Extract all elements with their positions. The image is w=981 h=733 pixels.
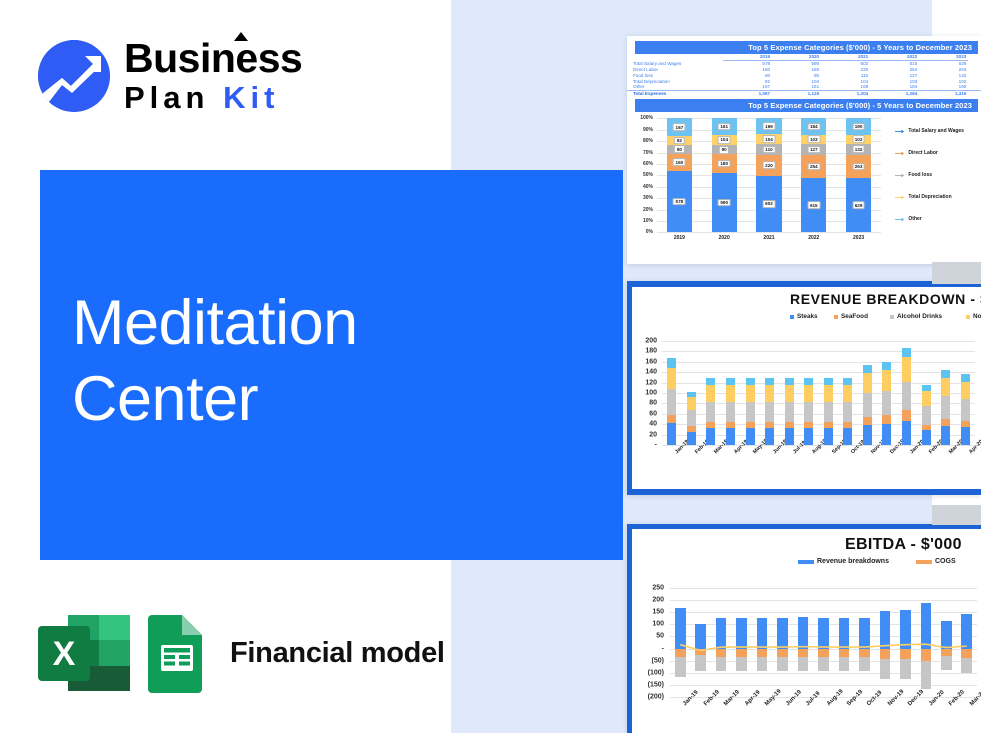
bar-segment	[716, 657, 727, 672]
bar-segment: 90	[712, 145, 737, 154]
bar-segment: 615	[801, 178, 826, 233]
bar-value-label: 160	[673, 158, 686, 166]
bar-segment	[736, 618, 747, 649]
bar-segment	[900, 659, 911, 679]
bar-segment	[667, 423, 676, 445]
legend-swatch	[966, 315, 970, 319]
y-axis-label: 180	[632, 348, 657, 355]
legend-item: Total Salary and Wages	[895, 128, 964, 134]
bar-segment	[798, 657, 809, 672]
stacked-bar	[902, 341, 911, 445]
bar-segment	[843, 422, 852, 429]
bar-segment	[818, 649, 829, 657]
bar-segment	[726, 428, 735, 445]
legend-label: Steaks	[797, 313, 818, 320]
x-axis-label: 2019	[657, 235, 702, 241]
bar-segment	[902, 348, 911, 357]
legend-label: Direct Labor	[908, 150, 937, 156]
bar-segment	[746, 428, 755, 445]
bar-segment	[675, 649, 686, 658]
bar-segment	[777, 649, 788, 657]
format-footer: X Financial model	[38, 613, 445, 693]
bar-segment	[785, 385, 794, 402]
bar-segment	[746, 402, 755, 422]
bar-segment	[687, 426, 696, 432]
x-axis-label: Jan-20	[928, 690, 946, 708]
bar-segment	[716, 618, 727, 649]
bar-segment	[843, 402, 852, 422]
card-top-strip	[627, 281, 981, 287]
stacked-bar	[726, 341, 735, 445]
bar-segment	[922, 385, 931, 391]
bar-segment	[804, 385, 813, 402]
bar-value-label: 578	[673, 198, 686, 206]
legend-item: Direct Labor	[895, 150, 938, 156]
bar-segment	[824, 422, 833, 429]
y-axis-label: 100%	[631, 115, 653, 121]
bar-segment	[839, 618, 850, 649]
stacked-bar: 602220110104169	[756, 118, 781, 232]
bar-segment	[843, 428, 852, 445]
bar-segment	[961, 427, 970, 445]
bar-segment	[922, 406, 931, 425]
bar-segment	[843, 385, 852, 402]
table-cell-pad	[968, 90, 981, 96]
bar-segment	[961, 399, 970, 421]
bar-segment	[726, 422, 735, 429]
legend-label: Other	[908, 216, 921, 222]
stacked-bar	[922, 341, 931, 445]
bar-segment: 629	[846, 178, 871, 232]
y-axis-label: 50	[632, 633, 664, 640]
bar-value-label: 104	[718, 136, 731, 144]
bar-segment: 102	[846, 135, 871, 144]
legend-label: Non Alcohol Drinks	[973, 313, 981, 320]
table-cell: 1,067	[723, 90, 772, 96]
y-axis-label: -	[632, 645, 664, 652]
bar-segment	[736, 649, 747, 657]
bar-segment	[839, 649, 850, 657]
stacked-bar	[765, 341, 774, 445]
y-axis-label: (100)	[632, 669, 664, 676]
x-axis-label: 2022	[791, 235, 836, 241]
bar-segment: 110	[756, 144, 781, 154]
bar-segment	[902, 357, 911, 381]
bar-value-label: 104	[763, 135, 776, 143]
bar-segment	[882, 362, 891, 369]
stacked-bar	[941, 341, 950, 445]
table-cell: 1,316	[919, 90, 968, 96]
stacked-bar	[785, 341, 794, 445]
row-label: Total Expenses	[627, 90, 723, 96]
legend-label: Total Salary and Wages	[908, 128, 964, 134]
legend-label: Revenue breakdowns	[817, 558, 889, 565]
bar-segment	[824, 402, 833, 422]
stacked-bar	[961, 341, 970, 445]
bar-segment	[726, 402, 735, 422]
bar-segment	[667, 389, 676, 415]
bar-segment	[785, 402, 794, 422]
bar-segment	[706, 428, 715, 445]
bar-segment: 127	[801, 144, 826, 155]
bar-value-label: 161	[718, 123, 731, 131]
stacked-bar	[843, 341, 852, 445]
bar-segment	[706, 378, 715, 385]
y-axis-label: 40%	[631, 184, 653, 190]
bar-segment	[716, 649, 727, 657]
bar-segment: 82	[667, 136, 692, 145]
bar-segment	[922, 425, 931, 430]
bar-value-label: 167	[673, 124, 686, 132]
stacked-bar	[706, 341, 715, 445]
bar-segment	[675, 657, 686, 677]
legend-item: Total Depreciation	[895, 194, 952, 200]
bar-value-label: 220	[763, 161, 776, 169]
bar-segment	[921, 603, 932, 648]
stacked-bar: 629263132102190	[846, 118, 871, 232]
bar-segment: 590	[712, 173, 737, 233]
bar-segment	[859, 657, 870, 672]
legend-label: Alcohol Drinks	[897, 313, 942, 320]
x-axis-label: Jun-19	[785, 689, 803, 707]
brand-wordmark: Business Plan Kit	[124, 36, 302, 116]
bar-segment: 190	[846, 118, 871, 134]
bar-segment	[765, 422, 774, 429]
svg-text:X: X	[53, 635, 76, 673]
legend-item: Food loss	[895, 172, 932, 178]
bar-segment	[706, 402, 715, 422]
card-bottom-strip	[627, 489, 981, 495]
bar-segment	[726, 378, 735, 385]
bar-segment	[765, 378, 774, 385]
bar-segment	[921, 649, 932, 662]
bar-value-label: 132	[852, 146, 865, 154]
bar-value-label: 184	[807, 123, 820, 131]
bar-value-label: 110	[763, 146, 776, 154]
bar-segment	[804, 402, 813, 422]
bar-segment	[667, 368, 676, 389]
bar-segment	[961, 649, 972, 658]
x-axis-label: Jul-19	[805, 691, 822, 708]
bar-segment	[706, 422, 715, 429]
bar-value-label: 263	[852, 163, 865, 171]
bar-segment	[675, 608, 686, 648]
bar-segment	[863, 417, 872, 425]
bar-value-label: 254	[807, 163, 820, 171]
circumflex-accent-icon	[234, 32, 248, 41]
bar-segment	[765, 385, 774, 402]
brand-business-text: Business	[124, 35, 302, 81]
bar-segment: 602	[756, 176, 781, 233]
y-axis-label: 0%	[631, 229, 653, 235]
y-axis-label: 20	[632, 431, 657, 438]
bar-segment	[687, 397, 696, 410]
bar-value-label: 103	[807, 136, 820, 144]
bar-segment	[839, 657, 850, 672]
grid-line	[670, 600, 977, 601]
bar-value-label: 169	[763, 123, 776, 131]
x-axis-label: Dec-19	[907, 689, 925, 707]
microsoft-excel-icon: X	[38, 613, 130, 693]
bar-segment	[798, 649, 809, 657]
bar-segment	[726, 385, 735, 402]
ebitda-chart-title: EBITDA - $'000	[845, 536, 962, 554]
legend-item: Revenue breakdowns	[798, 558, 889, 565]
y-axis-label: 40	[632, 421, 657, 428]
bar-segment: 184	[801, 118, 826, 134]
revenue-chart-title: REVENUE BREAKDOWN - $'000	[790, 291, 981, 307]
y-axis-label: 160	[632, 358, 657, 365]
y-axis-label: 50%	[631, 172, 653, 178]
expense-chart-title: Top 5 Expense Categories ($'000) - 5 Yea…	[635, 99, 978, 112]
bar-segment	[843, 378, 852, 385]
bar-segment	[687, 432, 696, 445]
legend-item: SeaFood	[834, 313, 868, 320]
bar-segment: 104	[712, 135, 737, 146]
bar-segment	[746, 378, 755, 385]
x-axis-label: Mar-20	[969, 689, 981, 707]
bar-segment	[863, 425, 872, 445]
stacked-bar: 5781608082167	[667, 118, 692, 232]
bar-segment	[765, 402, 774, 422]
bar-segment: 160	[667, 154, 692, 171]
bar-segment: 132	[846, 144, 871, 155]
y-axis-label: 80%	[631, 138, 653, 144]
brand-line-plankit: Plan Kit	[124, 80, 302, 116]
brand-logo[interactable]: Business Plan Kit	[38, 30, 338, 118]
y-axis-label: 30%	[631, 195, 653, 201]
bar-segment	[785, 422, 794, 429]
window-edge-tab-2	[932, 505, 981, 525]
x-axis-label: 2020	[702, 235, 747, 241]
y-axis-label: 90%	[631, 127, 653, 133]
bar-segment	[757, 618, 768, 649]
legend-label: SeaFood	[841, 313, 868, 320]
grid-line	[657, 232, 881, 233]
bar-segment	[961, 374, 970, 381]
bar-segment	[824, 385, 833, 402]
bar-segment	[777, 618, 788, 649]
ebitda-top-strip	[627, 524, 981, 529]
y-axis-label: 120	[632, 379, 657, 386]
bar-segment: 80	[667, 145, 692, 154]
page-title: Meditation Center	[72, 285, 592, 437]
y-axis-label: 80	[632, 400, 657, 407]
brand-kit-text: Kit	[223, 80, 279, 115]
bar-segment	[863, 373, 872, 393]
y-axis-label: 250	[632, 585, 664, 592]
bar-segment	[863, 365, 872, 373]
bar-segment	[961, 658, 972, 673]
expense-categories-screenshot[interactable]: Top 5 Expense Categories ($'000) - 5 Yea…	[627, 36, 981, 264]
bar-segment: 578	[667, 171, 692, 233]
bar-value-label: 590	[718, 199, 731, 207]
bar-segment	[824, 378, 833, 385]
bar-segment	[818, 618, 829, 649]
page-title-line-2: Center	[72, 361, 592, 437]
x-axis-label: Feb-19	[703, 689, 721, 707]
legend-swatch	[798, 560, 814, 564]
bar-value-label: 602	[763, 200, 776, 208]
bar-value-label: 102	[852, 135, 865, 143]
grid-line	[670, 588, 977, 589]
bar-value-label: 629	[852, 201, 865, 209]
bar-segment	[902, 410, 911, 420]
bar-segment: 167	[667, 118, 692, 136]
bar-segment	[695, 655, 706, 671]
bar-segment	[941, 656, 952, 671]
brand-line-business: Business	[124, 36, 302, 80]
y-axis-label: 20%	[631, 207, 653, 213]
stacked-bar	[746, 341, 755, 445]
bar-segment	[746, 385, 755, 402]
bar-segment	[902, 382, 911, 411]
expense-stacked-bar-chart: 100%90%80%70%60%50%40%30%20%10%0%5781608…	[631, 114, 977, 246]
bar-value-label: 190	[852, 123, 865, 131]
legend-label: Total Depreciation	[908, 194, 951, 200]
bar-segment	[695, 624, 706, 649]
bar-segment	[687, 410, 696, 426]
revenue-stacked-bar-chart: 20018016014012010080604020-Jan-19Feb-19M…	[632, 311, 981, 489]
bar-segment	[746, 422, 755, 429]
ebitda-screenshot[interactable]: EBITDA - $'000 25020015010050-(50)(100)(…	[627, 524, 981, 733]
y-axis-label: 100	[632, 621, 664, 628]
y-axis-label: 70%	[631, 150, 653, 156]
page-title-line-1: Meditation	[72, 285, 592, 361]
y-axis-label: 200	[632, 338, 657, 345]
bar-segment: 263	[846, 155, 871, 178]
bar-segment	[941, 621, 952, 649]
y-axis-label: 150	[632, 609, 664, 616]
legend-item: Steaks	[790, 313, 818, 320]
legend-swatch	[916, 560, 932, 564]
bar-segment	[757, 657, 768, 672]
x-axis-label: Nov-19	[887, 689, 905, 707]
bar-segment	[798, 617, 809, 648]
y-axis-label: (150)	[632, 681, 664, 688]
bar-segment: 103	[801, 135, 826, 144]
y-axis-label: 200	[632, 597, 664, 604]
x-axis-label: Mar-19	[723, 689, 741, 707]
bar-segment	[804, 428, 813, 445]
y-axis-label: 100	[632, 390, 657, 397]
legend-label: Food loss	[908, 172, 932, 178]
legend-item: Non Alcohol Drinks	[966, 313, 981, 320]
format-label: Financial model	[230, 637, 445, 670]
ebitda-stacked-bar-chart: 25020015010050-(50)(100)(150)(200)Jan-19…	[632, 558, 981, 733]
bar-value-label: 615	[807, 201, 820, 209]
x-axis-label: Apr-19	[744, 690, 762, 708]
y-axis-label: (200)	[632, 694, 664, 701]
legend-swatch	[890, 315, 894, 319]
expense-table-title: Top 5 Expense Categories ($'000) - 5 Yea…	[635, 41, 978, 54]
stacked-bar: 59018090104161	[712, 118, 737, 232]
bar-segment	[961, 382, 970, 399]
bar-segment: 254	[801, 155, 826, 178]
google-sheets-icon	[146, 613, 208, 693]
x-axis-label: Feb-20	[948, 689, 966, 707]
expense-table: 2019 2020 2021 2022 2023 Total Salary an…	[627, 54, 981, 96]
legend-swatch	[790, 315, 794, 319]
bar-segment	[882, 391, 891, 415]
y-axis-label: 140	[632, 369, 657, 376]
bar-segment	[880, 611, 891, 648]
legend-item: Alcohol Drinks	[890, 313, 942, 320]
bar-segment	[941, 396, 950, 419]
bar-segment	[961, 421, 970, 428]
bar-segment	[902, 421, 911, 445]
revenue-breakdown-screenshot[interactable]: REVENUE BREAKDOWN - $'000 20018016014012…	[627, 281, 981, 495]
bar-segment	[900, 610, 911, 649]
bar-segment	[863, 393, 872, 417]
bar-segment	[824, 428, 833, 445]
bar-segment	[687, 392, 696, 397]
bar-segment: 169	[756, 118, 781, 134]
bar-value-label: 82	[674, 137, 684, 145]
bar-segment: 104	[756, 134, 781, 144]
bar-segment	[804, 378, 813, 385]
bar-value-label: 80	[674, 145, 684, 153]
x-axis-label: Oct-19	[866, 690, 883, 707]
bar-segment	[765, 428, 774, 445]
stacked-bar	[824, 341, 833, 445]
legend-item: COGS	[916, 558, 956, 565]
x-axis-label: 2023	[836, 235, 881, 241]
bar-segment	[667, 415, 676, 423]
bar-segment	[804, 422, 813, 429]
bar-segment	[941, 419, 950, 426]
y-axis-label: -	[632, 442, 657, 449]
bar-segment: 220	[756, 155, 781, 176]
bar-segment: 161	[712, 118, 737, 134]
table-row: Total Expenses1,0671,1251,2041,2841,316	[627, 90, 981, 96]
legend-swatch	[834, 315, 838, 319]
bar-value-label: 90	[719, 146, 729, 154]
y-axis-label: 60	[632, 410, 657, 417]
bar-segment	[961, 614, 972, 649]
bar-segment	[667, 358, 676, 367]
bar-segment	[900, 649, 911, 660]
stacked-bar	[863, 341, 872, 445]
bar-segment	[777, 657, 788, 672]
stacked-bar	[804, 341, 813, 445]
bar-segment	[785, 428, 794, 445]
stacked-bar: 615254127103184	[801, 118, 826, 232]
table-cell: 1,125	[772, 90, 821, 96]
legend-item: Other	[895, 216, 922, 222]
stacked-bar	[687, 341, 696, 445]
bar-segment	[922, 430, 931, 445]
bar-segment: 180	[712, 154, 737, 172]
bar-segment	[818, 657, 829, 672]
stacked-bar	[667, 341, 676, 445]
y-axis-label: (50)	[632, 657, 664, 664]
bar-segment	[880, 659, 891, 679]
bar-segment	[941, 649, 952, 656]
legend-label: COGS	[935, 558, 956, 565]
bar-segment	[859, 618, 870, 649]
bar-segment	[941, 378, 950, 396]
table-cell: 1,204	[821, 90, 870, 96]
bar-segment	[785, 378, 794, 385]
growth-arrow-circle-icon	[38, 40, 110, 112]
y-axis-label: 60%	[631, 161, 653, 167]
bar-segment	[880, 649, 891, 659]
stacked-bar	[882, 341, 891, 445]
bar-segment	[922, 391, 931, 406]
x-axis-label: Jan-19	[682, 690, 700, 708]
table-cell: 1,284	[870, 90, 919, 96]
